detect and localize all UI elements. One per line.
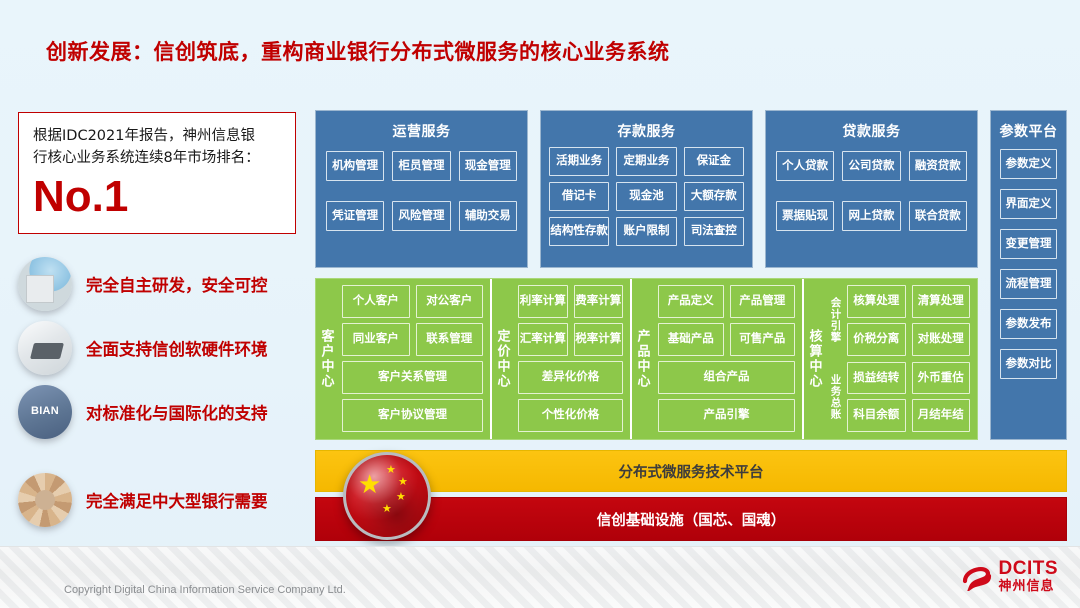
flag-star-2: ★ [398,477,408,488]
bullet-label-0: 完全自主研发，安全可控 [86,272,268,296]
gchip-customer-0[interactable]: 个人客户 [342,285,410,318]
chip-loan-3[interactable]: 票据贴现 [776,201,834,231]
page-title: 创新发展：信创筑底，重构商业银行分布式微服务的核心业务系统 [46,36,670,66]
panel-title-deposit: 存款服务 [541,111,752,141]
chip-param-5[interactable]: 参数对比 [1000,349,1057,379]
chip-operations-1[interactable]: 柜员管理 [392,151,450,181]
architecture-diagram: 运营服务 机构管理 柜员管理 现金管理 凭证管理 风险管理 辅助交易 存款服务 … [315,110,1067,548]
chip-loan-4[interactable]: 网上贷款 [842,201,900,231]
callout-line-2: 行核心业务系统连续8年市场排名： [33,147,283,169]
gchip-pricing-1[interactable]: 费率计算 [574,285,624,318]
accounting-subgroup-engine: 会计引擎 核算处理 清算处理 价税分离 对账处理 [828,285,970,356]
flag-star-4: ★ [382,504,392,515]
gchip-product-4[interactable]: 组合产品 [658,361,795,394]
chip-operations-0[interactable]: 机构管理 [326,151,384,181]
gchip-accounting-0[interactable]: 核算处理 [847,285,906,318]
gchip-accounting-5[interactable]: 外币重估 [912,362,971,395]
gchip-product-1[interactable]: 产品管理 [730,285,796,318]
panel-loan-service: 贷款服务 个人贷款 公司贷款 融资贷款 票据贴现 网上贷款 联合贷款 [765,110,978,268]
gchip-pricing-4[interactable]: 差异化价格 [518,361,623,394]
column-label-accounting-center: 核算中心 [804,279,826,439]
idc-ranking-callout: 根据IDC2021年报告，神州信息银 行核心业务系统连续8年市场排名： No.1 [18,112,296,234]
gchip-product-3[interactable]: 可售产品 [730,323,796,356]
chip-operations-3[interactable]: 凭证管理 [326,201,384,231]
panel-deposit-service: 存款服务 活期业务 定期业务 保证金 借记卡 现金池 大额存款 结构性存款 账户… [540,110,753,268]
bullet-item-1: 全面支持信创软硬件环境 [18,320,308,376]
green-core-band: 客户中心 个人客户 对公客户 同业客户 联系管理 客户关系管理 客户协议管理 [315,278,978,440]
gchip-pricing-5[interactable]: 个性化价格 [518,399,623,432]
chip-deposit-7[interactable]: 账户限制 [616,217,676,246]
chip-operations-2[interactable]: 现金管理 [459,151,517,181]
bian-logo-icon [18,385,72,439]
copyright-text: Copyright Digital China Information Serv… [64,584,346,596]
bullet-item-0: 完全自主研发，安全可控 [18,256,308,312]
laptop-icon [18,321,72,375]
column-label-customer-center: 客户中心 [316,279,338,439]
callout-line-1: 根据IDC2021年报告，神州信息银 [33,125,283,147]
gchip-accounting-7[interactable]: 月结年结 [912,399,971,432]
gchip-pricing-3[interactable]: 税率计算 [574,323,624,356]
china-flag-sphere-icon: ★ ★ ★ ★ ★ [343,452,431,540]
panel-parameter-platform: 参数平台 参数定义 界面定义 变更管理 流程管理 参数发布 参数对比 [990,110,1067,440]
gchip-accounting-4[interactable]: 损益结转 [847,362,906,395]
gchip-customer-1[interactable]: 对公客户 [416,285,484,318]
dcits-swirl-icon [962,561,992,591]
chip-operations-5[interactable]: 辅助交易 [459,201,517,231]
chip-loan-1[interactable]: 公司贷款 [842,151,900,181]
datacenter-icon [18,257,72,311]
brand-name-cn: 神州信息 [999,579,1059,593]
gchip-product-5[interactable]: 产品引擎 [658,399,795,432]
chip-param-4[interactable]: 参数发布 [1000,309,1057,339]
chip-deposit-6[interactable]: 结构性存款 [549,217,609,246]
gchip-product-2[interactable]: 基础产品 [658,323,724,356]
panel-operations-service: 运营服务 机构管理 柜员管理 现金管理 凭证管理 风险管理 辅助交易 [315,110,528,268]
chip-deposit-5[interactable]: 大额存款 [684,182,744,211]
accounting-sublabel-ledger: 业务总账 [828,362,844,433]
bullet-label-3: 完全满足中大型银行需要 [86,488,268,512]
gchip-customer-2[interactable]: 同业客户 [342,323,410,356]
slide-footer: Copyright Digital China Information Serv… [0,546,1080,608]
flag-star-1: ★ [386,465,396,476]
gchip-accounting-6[interactable]: 科目余额 [847,399,906,432]
hands-teamwork-icon [18,473,72,527]
dcits-logo: DCITS 神州信息 [962,559,1059,593]
chip-loan-0[interactable]: 个人贷款 [776,151,834,181]
gchip-pricing-0[interactable]: 利率计算 [518,285,568,318]
bullet-label-2: 对标准化与国际化的支持 [86,400,268,424]
chip-param-2[interactable]: 变更管理 [1000,229,1057,259]
chip-operations-4[interactable]: 风险管理 [392,201,450,231]
accounting-subgroup-ledger: 业务总账 损益结转 外币重估 科目余额 月结年结 [828,362,970,433]
flag-star-3: ★ [396,492,406,503]
gchip-pricing-2[interactable]: 汇率计算 [518,323,568,356]
gchip-customer-3[interactable]: 联系管理 [416,323,484,356]
gchip-accounting-1[interactable]: 清算处理 [912,285,971,318]
chip-deposit-2[interactable]: 保证金 [684,147,744,176]
column-label-product-center: 产品中心 [632,279,654,439]
column-pricing-center: 定价中心 利率计算 费率计算 汇率计算 税率计算 差异化价格 个性化价格 [492,279,632,439]
gchip-customer-4[interactable]: 客户关系管理 [342,361,483,394]
chip-deposit-1[interactable]: 定期业务 [616,147,676,176]
panel-title-parameter-platform: 参数平台 [991,111,1066,141]
flag-star-large: ★ [358,471,381,497]
chip-deposit-0[interactable]: 活期业务 [549,147,609,176]
chip-param-3[interactable]: 流程管理 [1000,269,1057,299]
chip-loan-5[interactable]: 联合贷款 [909,201,967,231]
bullet-label-1: 全面支持信创软硬件环境 [86,336,268,360]
column-customer-center: 客户中心 个人客户 对公客户 同业客户 联系管理 客户关系管理 客户协议管理 [316,279,492,439]
panel-title-operations: 运营服务 [316,111,527,141]
bullet-item-2: 对标准化与国际化的支持 [18,384,308,440]
chip-deposit-4[interactable]: 现金池 [616,182,676,211]
panel-title-loan: 贷款服务 [766,111,977,141]
column-label-pricing-center: 定价中心 [492,279,514,439]
gchip-customer-5[interactable]: 客户协议管理 [342,399,483,432]
bullet-item-3: 完全满足中大型银行需要 [18,472,308,528]
brand-name-en: DCITS [999,559,1059,579]
callout-rank-value: No.1 [33,171,283,223]
chip-param-0[interactable]: 参数定义 [1000,149,1057,179]
gchip-product-0[interactable]: 产品定义 [658,285,724,318]
column-accounting-center: 核算中心 会计引擎 核算处理 清算处理 价税分离 对账处理 [804,279,977,439]
gchip-accounting-2[interactable]: 价税分离 [847,323,906,356]
chip-deposit-8[interactable]: 司法查控 [684,217,744,246]
gchip-accounting-3[interactable]: 对账处理 [912,323,971,356]
chip-param-1[interactable]: 界面定义 [1000,189,1057,219]
chip-deposit-3[interactable]: 借记卡 [549,182,609,211]
accounting-sublabel-engine: 会计引擎 [828,285,844,356]
column-product-center: 产品中心 产品定义 产品管理 基础产品 可售产品 组合产品 产品引擎 [632,279,804,439]
chip-loan-2[interactable]: 融资贷款 [909,151,967,181]
